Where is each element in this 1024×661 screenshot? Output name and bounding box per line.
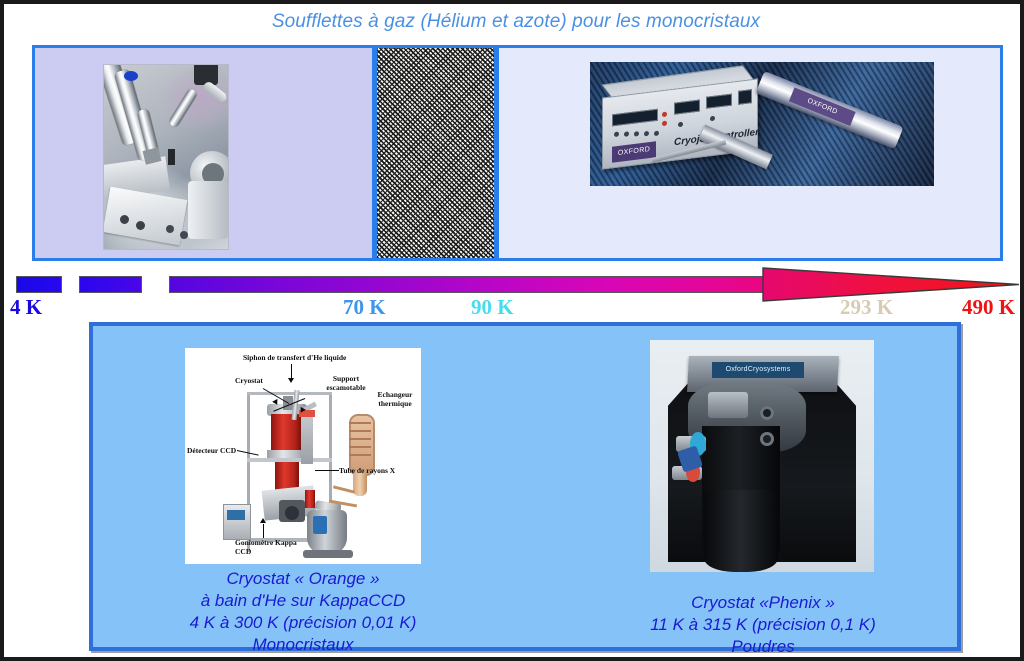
- temp-segment-1: [16, 276, 62, 293]
- phenix-bolt-2: [760, 432, 774, 446]
- caption-orange-line-1: Cryostat « Orange »: [133, 568, 473, 590]
- slide-frame: Soufflettes à gaz (Hélium et azote) pour…: [0, 0, 1024, 661]
- top-panel-middle-hatched: [374, 45, 497, 261]
- caption-orange-line-4: Monocristaux: [133, 634, 473, 656]
- temp-gradient-bar: [169, 276, 764, 293]
- phenix-cylinder: [704, 490, 778, 572]
- caption-phenix-line-2: 11 K à 315 K (précision 0,1 K): [593, 614, 933, 636]
- oxford-cryosystems-logo: OxfordCryosystems: [712, 362, 804, 378]
- annotation-siphon: Siphon de transfert d'He liquide: [243, 353, 346, 362]
- caption-cryostat-phenix: Cryostat «Phenix » 11 K à 315 K (précisi…: [593, 592, 933, 658]
- temp-label-293k: 293 K: [840, 295, 893, 320]
- top-panel-left: [32, 45, 375, 261]
- cryojet-wand-brand: OXFORD: [789, 87, 856, 126]
- temp-segment-2: [79, 276, 142, 293]
- annotation-cryostat: Cryostat: [235, 376, 263, 385]
- caption-orange-line-2: à bain d'He sur KappaCCD: [133, 590, 473, 612]
- temperature-scale: 4 K 70 K 90 K 293 K 490 K: [4, 262, 1024, 324]
- temp-label-4k: 4 K: [10, 295, 42, 320]
- annotation-ccd: Détecteur CCD: [187, 446, 236, 455]
- cryostat-phenix-photo: OxfordCryosystems: [650, 340, 874, 572]
- annotation-echangeur: Echangeur thermique: [373, 390, 417, 408]
- bottom-panel: Siphon de transfert d'He liquide Cryosta…: [89, 322, 961, 651]
- phenix-plate: [708, 392, 748, 418]
- phenix-bolt-1: [760, 406, 774, 420]
- cryostat-orange-diagram: Siphon de transfert d'He liquide Cryosta…: [185, 348, 421, 564]
- photo-cryostream-nozzle: [103, 64, 229, 250]
- cryojet-wand: OXFORD: [756, 71, 904, 149]
- temp-label-70k: 70 K: [343, 295, 386, 320]
- annotation-xray-tube: Tube de rayons X: [339, 466, 395, 475]
- caption-orange-line-3: 4 K à 300 K (précision 0,01 K): [133, 612, 473, 634]
- temp-label-490k: 490 K: [962, 295, 1015, 320]
- caption-cryostat-orange: Cryostat « Orange » à bain d'He sur Kapp…: [133, 568, 473, 656]
- annotation-support: Support escamotable: [313, 374, 379, 392]
- caption-phenix-line-3: Poudres: [593, 636, 933, 658]
- temp-label-90k: 90 K: [471, 295, 514, 320]
- caption-phenix-line-1: Cryostat «Phenix »: [593, 592, 933, 614]
- photo-cryojet-controller: Cryojet Controller OXFORD OXFORD: [590, 62, 934, 186]
- annotation-goniometre: Goniomètre Kappa CCD: [235, 538, 305, 556]
- top-panel-right: Cryojet Controller OXFORD OXFORD: [496, 45, 1003, 261]
- page-title: Soufflettes à gaz (Hélium et azote) pour…: [4, 11, 1024, 33]
